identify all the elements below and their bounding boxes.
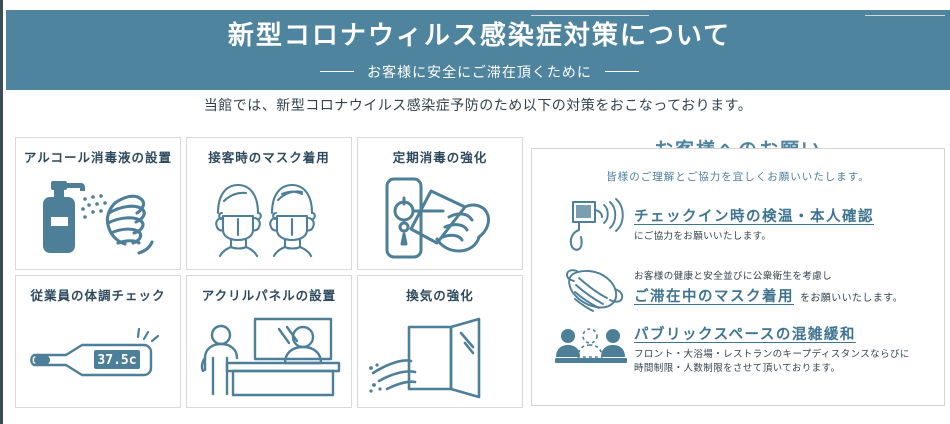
guest-request-item: お客様の健康と安全並びに公衆衛生を考慮し ご滞在中のマスク着用をお願いいたします…	[532, 256, 944, 318]
guest-request-headline[interactable]: チェックイン時の検温・本人確認	[634, 205, 930, 226]
guest-request-text: パブリックスペースの混雑緩和 フロント・大浴場・レストランのキープディスタンスな…	[634, 323, 930, 376]
horizontal-rule-icon-left	[320, 71, 354, 72]
guest-request-detail: フロント・大浴場・レストランのキープディスタンスならびに 時間制限・人数制限をさ…	[634, 348, 930, 376]
door-handle-wipe-icon	[358, 170, 522, 268]
guest-request-panel: 皆様のご理解とご協力を宜しくお願いいたします。	[531, 148, 945, 406]
measures-grid: アルコール消毒液の設置	[15, 137, 525, 413]
measure-title: 換気の強化	[358, 276, 522, 304]
counter-acrylic-panel-icon	[187, 308, 351, 406]
guest-request-headline[interactable]: ご滞在中のマスク着用をお願いいたします。	[634, 285, 930, 306]
thermometer-reading: 37.5c	[97, 353, 136, 368]
measure-cell-ventilation: 換気の強化	[357, 275, 523, 408]
measure-title: アクリルパネルの設置	[187, 276, 351, 304]
intro-text: 当館では、新型コロナウイルス感染症予防のため以下の対策をおこなっております。	[3, 95, 950, 115]
measure-cell-acrylic-panel: アクリルパネルの設置	[186, 275, 352, 408]
panel-heading-rule-left	[531, 15, 649, 16]
open-window-airflow-icon	[358, 308, 522, 406]
digital-thermometer-icon: 37.5c	[16, 308, 180, 406]
measure-cell-staff-mask: 接客時のマスク着用	[186, 137, 352, 270]
measure-title: 定期消毒の強化	[358, 138, 522, 166]
measure-cell-disinfection: 定期消毒の強化	[357, 137, 523, 270]
face-mask-icon	[550, 260, 634, 314]
page-header-band: 新型コロナウィルス感染症対策について お客様に安全にご滞在頂くために	[6, 10, 950, 90]
forehead-thermometer-gun-icon	[550, 196, 634, 252]
page-title: 新型コロナウィルス感染症対策について	[6, 10, 950, 48]
guest-request-headline[interactable]: パブリックスペースの混雑緩和	[634, 323, 930, 344]
guest-request-detail-line2: 時間制限・人数制限をさせて頂いております。	[634, 362, 930, 376]
guest-request-headline-text: ご滞在中のマスク着用	[634, 289, 794, 305]
horizontal-rule-icon-right	[605, 71, 639, 72]
guest-request-detail-line1: フロント・大浴場・レストランのキープディスタンスならびに	[634, 348, 930, 362]
measures-grid-row-1: アルコール消毒液の設置	[15, 137, 525, 270]
two-masked-faces-icon	[187, 170, 351, 268]
guest-request-text: チェックイン時の検温・本人確認 にご協力をお願いいたします。	[634, 205, 930, 244]
guest-request-detail: にご協力をお願いいたします。	[634, 230, 930, 244]
page-root: 新型コロナウィルス感染症対策について お客様に安全にご滞在頂くために 当館では、…	[0, 0, 950, 424]
measure-title: 従業員の体調チェック	[16, 276, 180, 304]
guest-request-text: お客様の健康と安全並びに公衆衛生を考慮し ご滞在中のマスク着用をお願いいたします…	[634, 268, 930, 306]
guest-request-detail: をお願いいたします。	[800, 289, 903, 304]
page-subtitle-row: お客様に安全にご滞在頂くために	[6, 62, 950, 82]
guest-request-note: お客様の健康と安全並びに公衆衛生を考慮し	[634, 268, 930, 282]
measure-title: 接客時のマスク着用	[187, 138, 351, 166]
measure-cell-staff-health-check: 従業員の体調チェック 37.5c	[15, 275, 181, 408]
page-subtitle: お客様に安全にご滞在頂くために	[367, 64, 592, 80]
sanitizer-dispenser-hands-icon	[16, 170, 180, 268]
guest-request-list: チェックイン時の検温・本人確認 にご協力をお願いいたします。	[532, 192, 944, 380]
guest-request-item: チェックイン時の検温・本人確認 にご協力をお願いいたします。	[532, 192, 944, 256]
panel-heading-rule-right	[865, 15, 945, 16]
social-distancing-bench-icon	[550, 323, 634, 375]
measures-grid-row-2: 従業員の体調チェック 37.5c	[15, 275, 525, 408]
measure-title: アルコール消毒液の設置	[16, 138, 180, 166]
measure-cell-sanitizer: アルコール消毒液の設置	[15, 137, 181, 270]
panel-subtitle: 皆様のご理解とご協力を宜しくお願いいたします。	[532, 169, 944, 184]
guest-request-item: パブリックスペースの混雑緩和 フロント・大浴場・レストランのキープディスタンスな…	[532, 318, 944, 380]
